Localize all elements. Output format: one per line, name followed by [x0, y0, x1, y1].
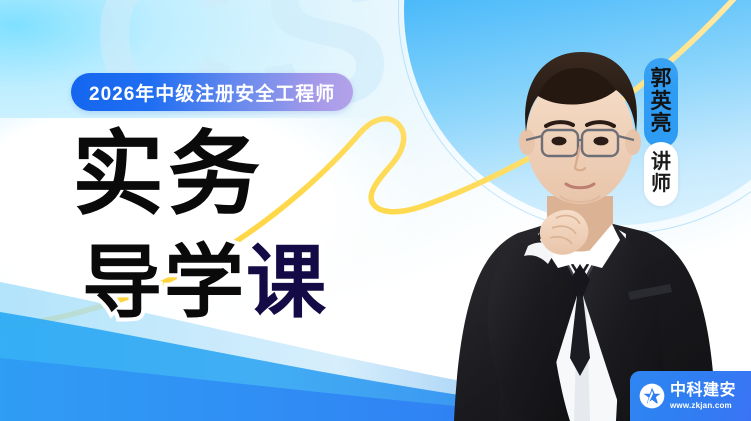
brand-name: 中科建安: [670, 383, 736, 399]
page-subtitle-accent: 课: [246, 238, 328, 327]
brand-text: 中科建安 www.zkjan.com: [670, 383, 736, 410]
instructor-role-char-2: 师: [651, 173, 671, 195]
star-mountain-icon: [639, 383, 665, 409]
page-subtitle-lead: 导学: [82, 238, 246, 327]
instructor-name-char-1: 郭: [651, 68, 672, 91]
instructor-photo: [420, 28, 750, 421]
instructor-name-badge[interactable]: 郭 英 亮: [644, 58, 678, 148]
course-poster: CSE: [0, 0, 751, 421]
page-title: 实务: [72, 131, 264, 219]
instructor-name-char-2: 英: [651, 91, 672, 114]
course-year-badge[interactable]: 2026年中级注册安全工程师: [71, 73, 353, 111]
brand-logo[interactable]: 中科建安 www.zkjan.com: [630, 371, 751, 421]
brand-url: www.zkjan.com: [670, 402, 736, 410]
instructor-role-char-1: 讲: [651, 151, 671, 173]
page-subtitle: 导学课: [82, 243, 328, 323]
instructor-role-badge[interactable]: 讲 师: [644, 142, 678, 206]
instructor-name-char-3: 亮: [651, 113, 672, 136]
